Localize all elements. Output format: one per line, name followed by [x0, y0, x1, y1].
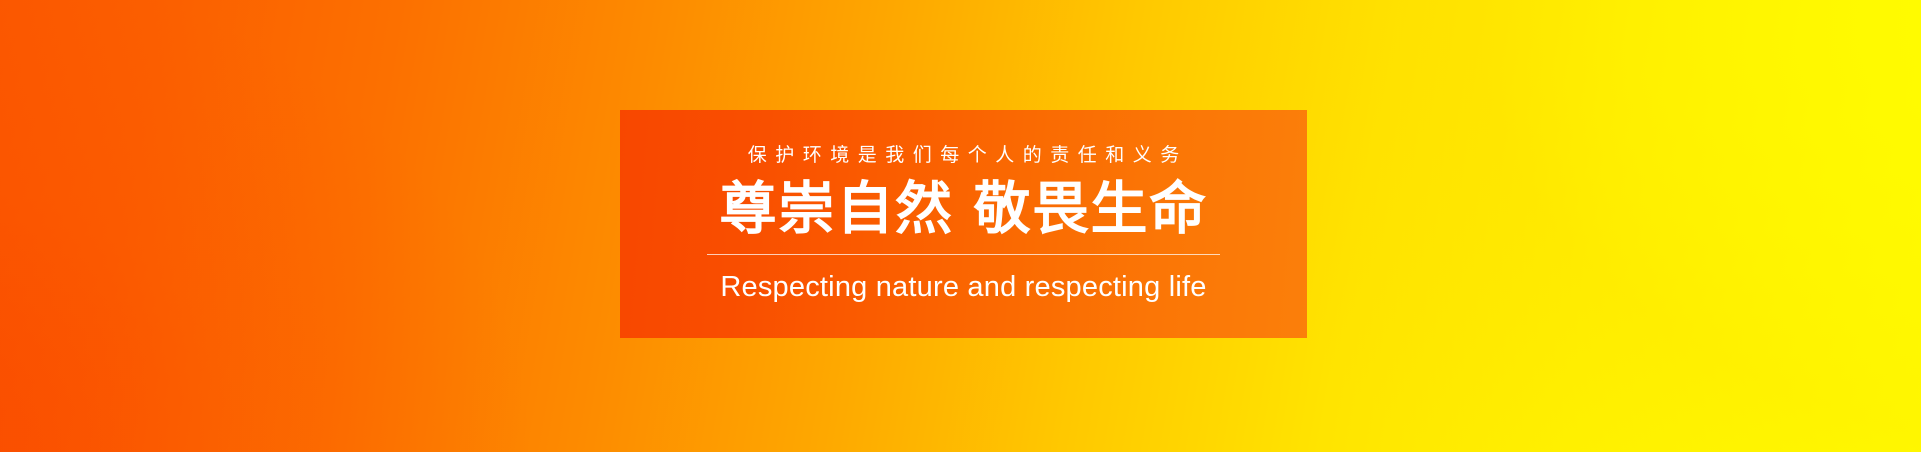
card-headline: 尊崇自然敬畏生命: [720, 180, 1208, 239]
headline-first-phrase: 尊崇自然: [720, 177, 954, 241]
card-tagline: 保护环境是我们每个人的责任和义务: [739, 146, 1188, 165]
headline-second-phrase: 敬畏生命: [974, 177, 1208, 241]
card-divider: [707, 254, 1220, 255]
slogan-card: 保护环境是我们每个人的责任和义务 尊崇自然敬畏生命 Respecting nat…: [620, 110, 1307, 338]
card-subtitle: Respecting nature and respecting life: [720, 273, 1206, 302]
environment-banner: 保护环境是我们每个人的责任和义务 尊崇自然敬畏生命 Respecting nat…: [0, 0, 1921, 452]
